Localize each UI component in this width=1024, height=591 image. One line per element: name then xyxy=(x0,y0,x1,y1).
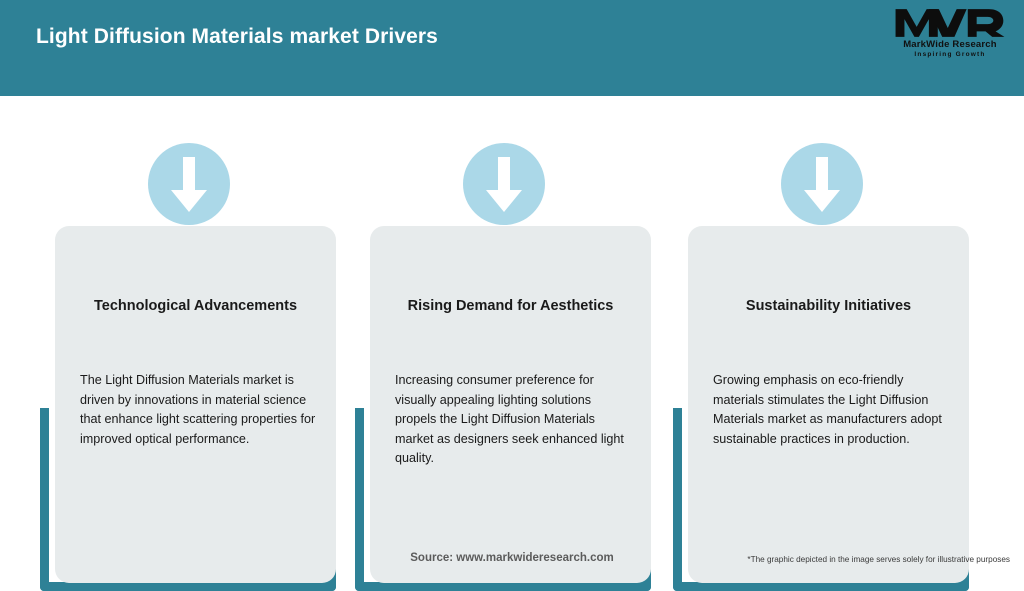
card-body-text: Increasing consumer preference for visua… xyxy=(395,371,635,469)
card-body-text: The Light Diffusion Materials market is … xyxy=(80,371,320,449)
driver-cards-group: Technological Advancements The Light Dif… xyxy=(0,96,1024,576)
header-bar: Light Diffusion Materials market Drivers… xyxy=(0,0,1024,96)
arrow-down-icon xyxy=(781,143,863,225)
arrow-down-glyph xyxy=(485,157,523,213)
card-panel: Rising Demand for Aesthetics Increasing … xyxy=(370,226,651,583)
page-title: Light Diffusion Materials market Drivers xyxy=(36,25,438,49)
card-body-text: Growing emphasis on eco-friendly materia… xyxy=(713,371,953,449)
driver-card-1: Technological Advancements The Light Dif… xyxy=(40,143,336,591)
logo-tagline: Inspiring Growth xyxy=(894,50,1006,59)
disclaimer-note: *The graphic depicted in the image serve… xyxy=(747,555,1010,564)
card-title: Sustainability Initiatives xyxy=(698,297,959,316)
mwr-monogram-icon xyxy=(894,8,1006,38)
driver-card-3: Sustainability Initiatives Growing empha… xyxy=(673,143,969,591)
arrow-down-glyph xyxy=(803,157,841,213)
card-panel: Sustainability Initiatives Growing empha… xyxy=(688,226,969,583)
arrow-down-glyph xyxy=(170,157,208,213)
driver-card-2: Rising Demand for Aesthetics Increasing … xyxy=(355,143,651,591)
logo-company-name: MarkWide Research xyxy=(894,39,1006,50)
card-title: Technological Advancements xyxy=(65,297,326,316)
card-title: Rising Demand for Aesthetics xyxy=(380,297,641,316)
arrow-down-icon xyxy=(148,143,230,225)
brand-logo: MarkWide Research Inspiring Growth xyxy=(894,8,1006,64)
arrow-down-icon xyxy=(463,143,545,225)
card-panel: Technological Advancements The Light Dif… xyxy=(55,226,336,583)
